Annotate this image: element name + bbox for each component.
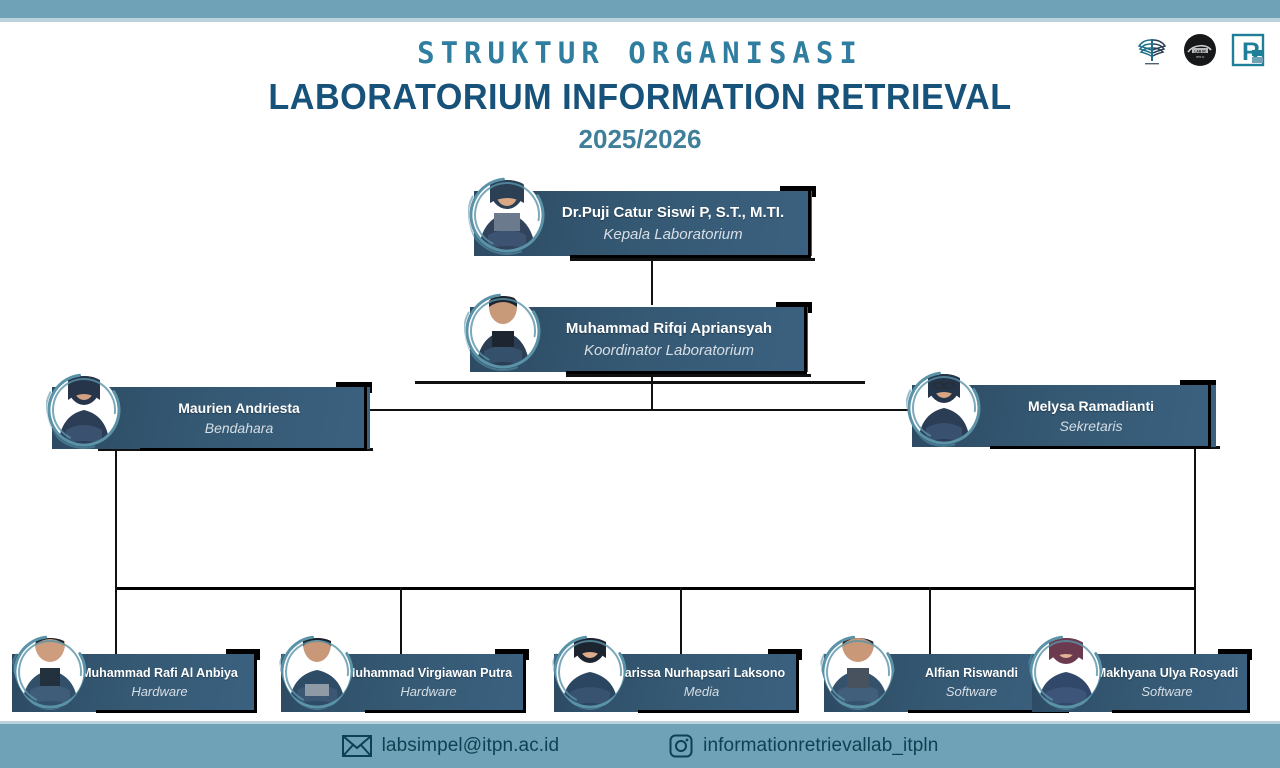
card-kepala-laboratorium[interactable]: Dr.Puji Catur Siswi P, S.T., M.TI. Kepal… — [470, 186, 820, 264]
card-accent-bottom-rail — [140, 448, 367, 451]
footer-contacts: labsimpel@itpn.ac.id informationretrieva… — [0, 724, 1280, 768]
avatar-ring-icon — [279, 600, 355, 710]
title-struktur-organisasi: STRUKTUR ORGANISASI — [0, 38, 1280, 70]
person-role: Media — [684, 685, 719, 700]
person-name: Tarissa Nurhapsari Laksono — [618, 666, 785, 680]
card-accent-bottom-rail — [365, 710, 526, 713]
card-staff-1[interactable]: Muhammad Rafi Al Anbiya Hardware — [8, 649, 270, 719]
card-koordinator-laboratorium[interactable]: Muhammad Rifqi Apriansyah Koordinator La… — [466, 302, 816, 380]
person-name: Alfian Riswandi — [925, 666, 1018, 680]
person-name: Makhyana Ulya Rosyadi — [1096, 666, 1238, 680]
connector-koordinator-to-sekretaris — [651, 409, 916, 411]
avatar-ring-icon — [46, 356, 122, 452]
avatar — [12, 600, 88, 710]
itpln-book-logo — [1132, 30, 1172, 70]
card-staff-3[interactable]: Tarissa Nurhapsari Laksono Media — [550, 649, 812, 719]
instagram-icon — [669, 734, 693, 758]
person-name: Melysa Ramadianti — [1028, 398, 1154, 414]
person-name: Dr.Puji Catur Siswi P, S.T., M.TI. — [562, 204, 784, 221]
card-accent-bottom-rail — [1112, 710, 1250, 713]
r-square-logo: R — [1228, 30, 1268, 70]
person-name: Maurien Andriesta — [178, 400, 300, 416]
avatar — [820, 600, 896, 710]
connector-staff-bus — [115, 587, 1196, 590]
avatar — [468, 163, 546, 261]
connector-kepala-to-koordinator — [651, 258, 653, 305]
avatar-ring-icon — [468, 163, 546, 261]
org-chart-poster: STRUKTUR ORGANISASI LABORATORIUM INFORMA… — [0, 0, 1280, 768]
card-accent-bottom-rail — [638, 710, 799, 713]
avatar — [46, 356, 122, 452]
connector-bendahara-drop — [115, 448, 117, 588]
person-role: Kepala Laboratorium — [603, 226, 742, 243]
top-banner-bar — [0, 0, 1280, 18]
email-text: labsimpel@itpn.ac.id — [382, 735, 560, 757]
logo-group: LAB IR ITPLN R — [1132, 30, 1268, 70]
person-name: Muhammad Rafi Al Anbiya — [81, 666, 238, 680]
card-bendahara[interactable]: Maurien Andriesta Bendahara — [48, 382, 378, 457]
person-role: Software — [946, 685, 997, 700]
card-staff-5[interactable]: Makhyana Ulya Rosyadi Software — [1028, 649, 1280, 719]
avatar-ring-icon — [906, 352, 982, 448]
title-academic-year: 2025/2026 — [0, 124, 1280, 155]
svg-text:LAB IR: LAB IR — [1194, 49, 1206, 53]
person-role: Software — [1141, 685, 1192, 700]
connector-sekretaris-drop — [1194, 446, 1196, 588]
card-accent-bottom-rail — [990, 446, 1211, 449]
contact-email[interactable]: labsimpel@itpn.ac.id — [342, 735, 560, 757]
person-role: Hardware — [400, 685, 456, 700]
card-accent-bottom-rail — [96, 710, 257, 713]
card-accent-bottom-rail — [570, 255, 811, 258]
avatar — [552, 600, 628, 710]
person-name: Muhammad Virgiawan Putra — [345, 666, 512, 680]
avatar — [279, 600, 355, 710]
circular-dark-logo: LAB IR ITPLN — [1180, 30, 1220, 70]
title-lab-name: LABORATORIUM INFORMATION RETRIEVAL — [32, 74, 1248, 119]
avatar-ring-icon — [12, 600, 88, 710]
card-sekretaris[interactable]: Melysa Ramadianti Sekretaris — [908, 380, 1223, 455]
avatar-ring-icon — [552, 600, 628, 710]
person-role: Koordinator Laboratorium — [584, 342, 754, 359]
avatar — [906, 352, 982, 448]
avatar — [464, 277, 542, 375]
avatar-ring-icon — [464, 277, 542, 375]
top-banner-accent — [0, 18, 1280, 22]
person-name: Muhammad Rifqi Apriansyah — [566, 320, 772, 337]
card-staff-2[interactable]: Muhammad Virgiawan Putra Hardware — [277, 649, 539, 719]
connector-koordinator-to-bendahara — [370, 409, 652, 411]
card-accent-bottom-rail — [566, 371, 807, 374]
svg-text:ITPLN: ITPLN — [1196, 55, 1205, 59]
person-role: Hardware — [131, 685, 187, 700]
person-role: Sekretaris — [1059, 418, 1122, 434]
person-role: Bendahara — [205, 420, 274, 436]
envelope-icon — [342, 735, 372, 757]
contact-instagram[interactable]: informationretrievallab_itpln — [669, 734, 938, 758]
instagram-text: informationretrievallab_itpln — [703, 735, 938, 757]
avatar-ring-icon — [1028, 600, 1104, 710]
avatar — [1028, 600, 1104, 710]
avatar-ring-icon — [820, 600, 896, 710]
poster-title-block: STRUKTUR ORGANISASI LABORATORIUM INFORMA… — [0, 38, 1280, 155]
connector-level2-bus — [415, 381, 865, 384]
